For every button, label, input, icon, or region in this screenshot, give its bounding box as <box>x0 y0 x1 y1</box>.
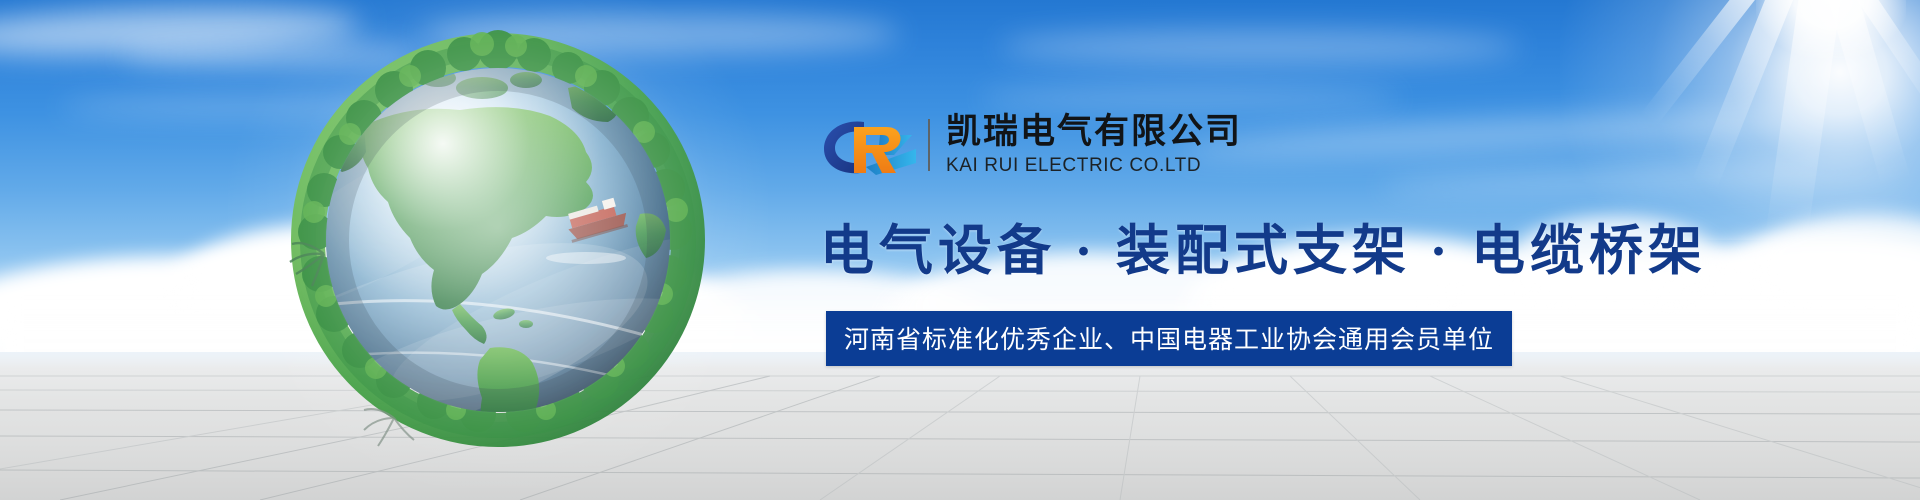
brand-names: 凯瑞电气有限公司 KAI RUI ELECTRIC CO.LTD <box>946 112 1242 178</box>
banner-content: 凯瑞电气有限公司 KAI RUI ELECTRIC CO.LTD 电气设备 · … <box>820 108 1640 366</box>
certification-badge: 河南省标准化优秀企业、中国电器工业协会通用会员单位 <box>826 311 1512 366</box>
hero-banner: 凯瑞电气有限公司 KAI RUI ELECTRIC CO.LTD 电气设备 · … <box>0 0 1920 500</box>
kr-monogram-logo <box>820 111 920 179</box>
headline-slogan: 电气设备 · 装配式支架 · 电缆桥架 <box>820 206 1640 285</box>
green-earth-globe <box>268 18 728 458</box>
company-name-en: KAI RUI ELECTRIC CO.LTD <box>946 154 1242 178</box>
brand-divider <box>928 119 930 171</box>
brand-lockup: 凯瑞电气有限公司 KAI RUI ELECTRIC CO.LTD <box>820 108 1640 182</box>
sun-core-icon <box>1756 0 1906 58</box>
company-name-cn: 凯瑞电气有限公司 <box>946 112 1242 151</box>
